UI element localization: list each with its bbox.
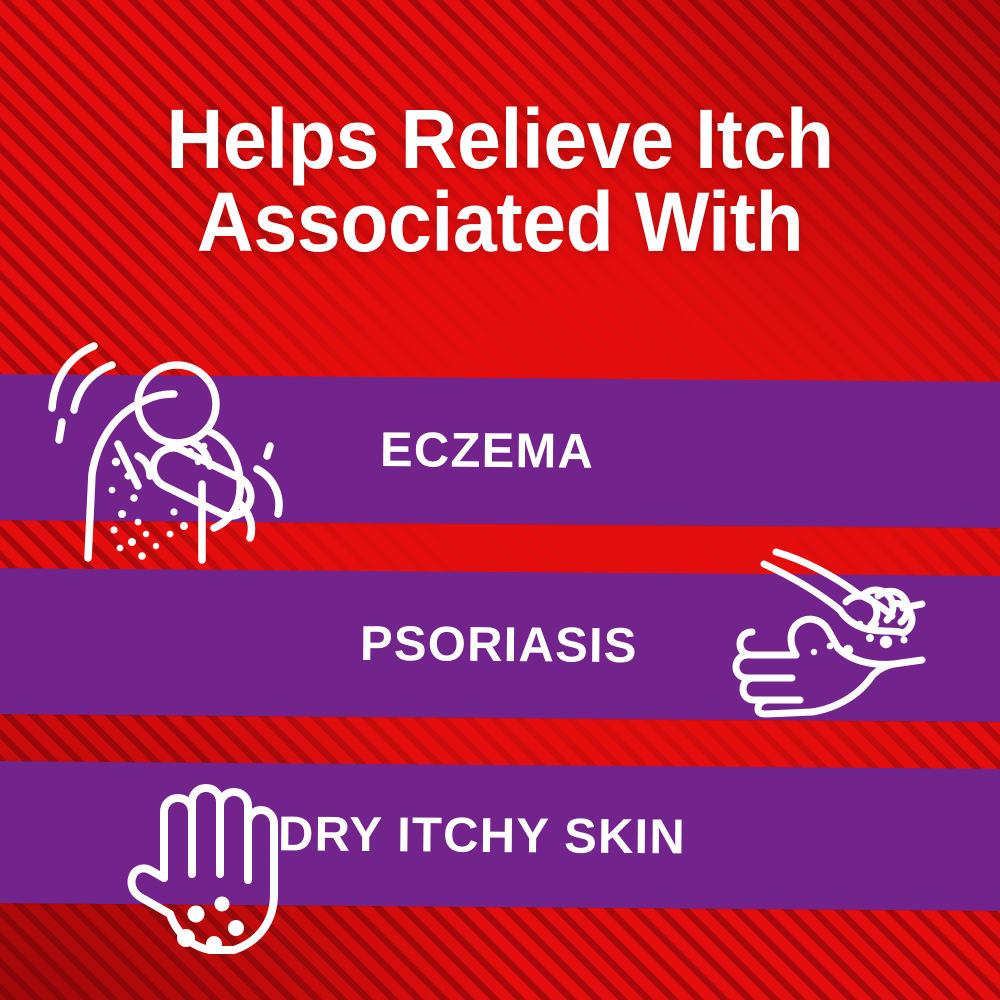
promotional-poster: Helps Relieve Itch Associated With ECZEM…	[0, 0, 1000, 1000]
condition-band-psoriasis: PSORIASIS	[0, 568, 1000, 722]
condition-band-eczema: ECZEMA	[0, 374, 1000, 528]
condition-band-dry-itchy-skin: DRY ITCHY SKIN	[0, 761, 1000, 911]
condition-label-psoriasis: PSORIASIS	[360, 616, 638, 674]
headline-line-1: Helps Relieve Itch	[30, 98, 970, 181]
headline-line-2: Associated With	[30, 181, 970, 264]
condition-label-dry-itchy-skin: DRY ITCHY SKIN	[278, 806, 686, 865]
condition-label-eczema: ECZEMA	[380, 422, 595, 480]
page-title: Helps Relieve Itch Associated With	[30, 98, 970, 264]
